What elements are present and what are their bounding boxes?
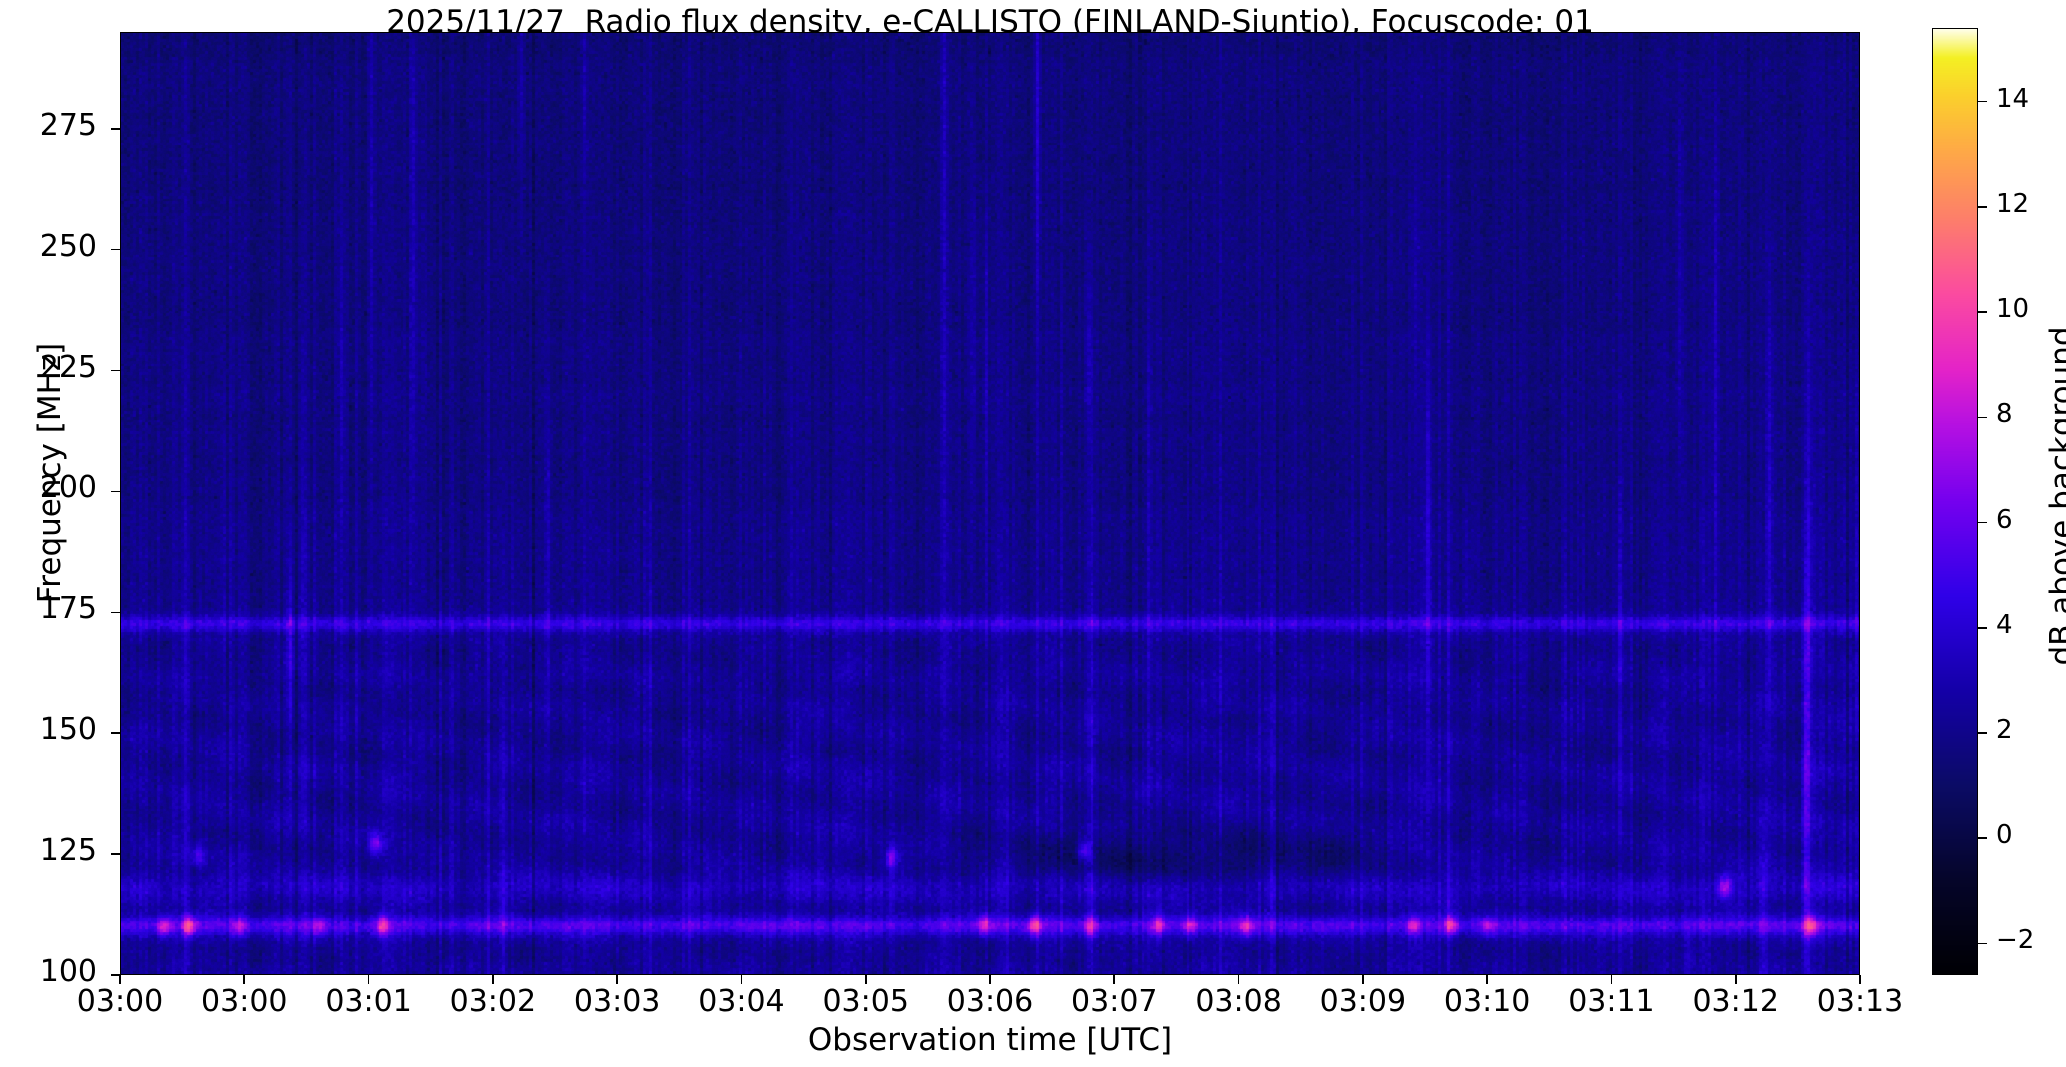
colorbar-tick-label: 0 <box>1996 820 2013 850</box>
x-axis-tick-label: 03:01 <box>299 984 439 1019</box>
y-axis-tick-mark <box>111 853 120 855</box>
colorbar-tick-label: 14 <box>1996 84 2029 114</box>
x-axis-tick-label: 03:02 <box>423 984 563 1019</box>
x-axis-tick-mark <box>368 975 370 984</box>
x-axis-tick-label: 03:00 <box>174 984 314 1019</box>
colorbar <box>1932 28 1978 975</box>
spectrogram-axes <box>120 32 1860 975</box>
x-axis-tick-label: 03:03 <box>547 984 687 1019</box>
x-axis-tick-mark <box>865 975 867 984</box>
x-axis-tick-label: 03:09 <box>1293 984 1433 1019</box>
x-axis-tick-mark <box>119 975 121 984</box>
y-axis-tick-mark <box>111 732 120 734</box>
y-axis-tick-label: 150 <box>0 712 97 747</box>
y-axis-tick-label: 275 <box>0 108 97 143</box>
y-axis-tick-label: 175 <box>0 591 97 626</box>
y-axis-tick-label: 200 <box>0 470 97 505</box>
colorbar-tick-label: 8 <box>1996 399 2013 429</box>
y-axis-tick-mark <box>111 612 120 614</box>
colorbar-tick-label: −2 <box>1996 925 2034 955</box>
x-axis-tick-mark <box>1859 975 1861 984</box>
colorbar-tick-label: 10 <box>1996 294 2029 324</box>
y-axis-tick-label: 250 <box>0 229 97 264</box>
x-axis-tick-mark <box>1238 975 1240 984</box>
x-axis-tick-label: 03:11 <box>1541 984 1681 1019</box>
colorbar-tick-mark <box>1978 837 1987 839</box>
x-axis-tick-label: 03:13 <box>1790 984 1930 1019</box>
x-axis-tick-label: 03:12 <box>1666 984 1806 1019</box>
colorbar-tick-mark <box>1978 732 1987 734</box>
x-axis-tick-label: 03:07 <box>1044 984 1184 1019</box>
spectrogram-figure: 2025/11/27 Radio flux density, e-CALLIST… <box>0 0 2066 1067</box>
colorbar-tick-mark <box>1978 101 1987 103</box>
colorbar-gradient <box>1933 29 1977 974</box>
colorbar-tick-mark <box>1978 206 1987 208</box>
x-axis-tick-label: 03:00 <box>50 984 190 1019</box>
x-axis-tick-label: 03:08 <box>1169 984 1309 1019</box>
colorbar-tick-label: 2 <box>1996 715 2013 745</box>
colorbar-tick-label: 4 <box>1996 610 2013 640</box>
x-axis-tick-label: 03:06 <box>920 984 1060 1019</box>
x-axis-tick-mark <box>1611 975 1613 984</box>
x-axis-tick-mark <box>1486 975 1488 984</box>
x-axis-tick-mark <box>243 975 245 984</box>
x-axis-tick-mark <box>492 975 494 984</box>
x-axis-tick-mark <box>1362 975 1364 984</box>
colorbar-tick-mark <box>1978 627 1987 629</box>
x-axis-tick-mark <box>989 975 991 984</box>
x-axis-label: Observation time [UTC] <box>120 1022 1860 1058</box>
colorbar-tick-mark <box>1978 417 1987 419</box>
colorbar-tick-mark <box>1978 311 1987 313</box>
y-axis-tick-mark <box>111 128 120 130</box>
x-axis-tick-label: 03:10 <box>1417 984 1557 1019</box>
colorbar-tick-label: 6 <box>1996 505 2013 535</box>
colorbar-tick-mark <box>1978 943 1987 945</box>
x-axis-tick-mark <box>1113 975 1115 984</box>
colorbar-label: dB above background <box>2044 186 2066 806</box>
colorbar-tick-mark <box>1978 522 1987 524</box>
x-axis-tick-mark <box>1735 975 1737 984</box>
y-axis-tick-mark <box>111 491 120 493</box>
y-axis-tick-mark <box>111 370 120 372</box>
x-axis-tick-mark <box>741 975 743 984</box>
y-axis-tick-label: 225 <box>0 350 97 385</box>
spectrogram-image <box>121 33 1860 975</box>
colorbar-tick-label: 12 <box>1996 189 2029 219</box>
y-axis-tick-label: 125 <box>0 833 97 868</box>
x-axis-tick-label: 03:04 <box>671 984 811 1019</box>
x-axis-tick-label: 03:05 <box>796 984 936 1019</box>
y-axis-tick-mark <box>111 249 120 251</box>
x-axis-tick-mark <box>616 975 618 984</box>
